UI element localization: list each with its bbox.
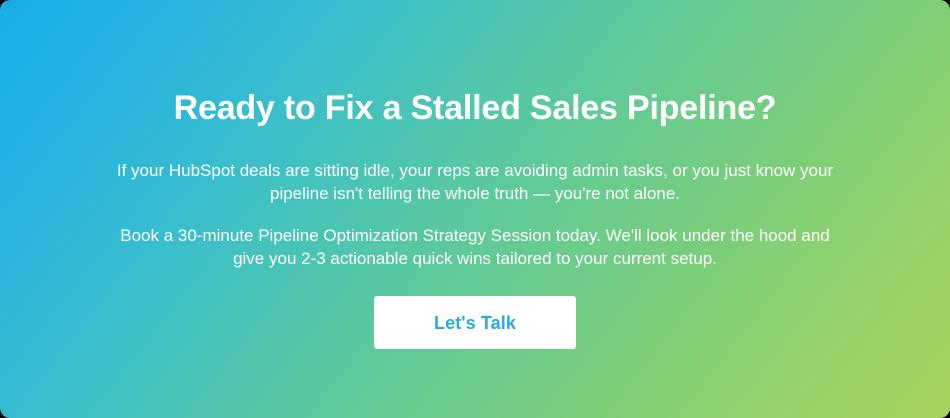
cta-paragraph-secondary: Book a 30-minute Pipeline Optimization S…	[113, 224, 838, 270]
lets-talk-button[interactable]: Let's Talk	[374, 296, 576, 349]
cta-content: Ready to Fix a Stalled Sales Pipeline? I…	[95, 0, 855, 349]
cta-heading: Ready to Fix a Stalled Sales Pipeline?	[95, 0, 855, 128]
cta-button-container: Let's Talk	[95, 296, 855, 349]
cta-banner: Ready to Fix a Stalled Sales Pipeline? I…	[0, 0, 950, 418]
cta-paragraph-primary: If your HubSpot deals are sitting idle, …	[113, 159, 838, 205]
